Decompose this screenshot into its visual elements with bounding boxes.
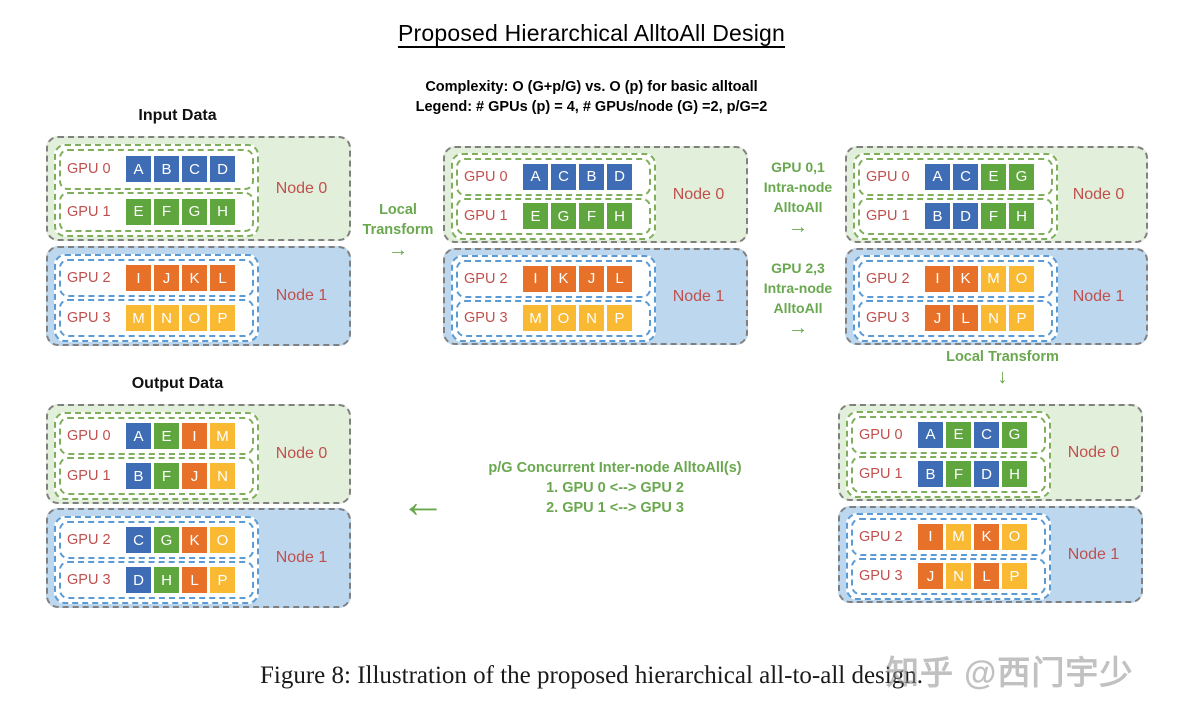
- gpu-row-gpu2[interactable]: GPU 2 IKMO: [858, 260, 1053, 298]
- output-data-label: Output Data: [65, 375, 290, 393]
- gpu-row-gpu1[interactable]: GPU 1 EGFH: [456, 198, 651, 236]
- data-chunk-cell: A: [918, 422, 943, 448]
- inter-node-line1: p/G Concurrent Inter-node AlltoAll(s): [450, 458, 780, 478]
- cell-list: EGFH: [523, 203, 632, 229]
- data-chunk-cell: H: [1002, 461, 1027, 487]
- node-label-node1: Node 1: [254, 248, 349, 344]
- cell-list: JNLP: [918, 563, 1027, 589]
- node-label-node1: Node 1: [1051, 250, 1146, 343]
- data-chunk-cell: G: [551, 203, 576, 229]
- gpu-row-label: GPU 3: [63, 572, 126, 588]
- gpu-row-gpu3[interactable]: GPU 3 MNOP: [59, 299, 254, 337]
- data-chunk-cell: O: [1002, 524, 1027, 550]
- right-arrow-icon: →: [350, 240, 446, 260]
- cell-list: AECG: [918, 422, 1027, 448]
- data-chunk-cell: G: [1009, 164, 1034, 190]
- local-transform-1-line1: Local: [350, 200, 446, 220]
- data-chunk-cell: L: [974, 563, 999, 589]
- stage4-node0-gpu-group: GPU 0 AECG GPU 1 BFDH: [846, 411, 1051, 498]
- data-chunk-cell: D: [607, 164, 632, 190]
- gpu-row-label: GPU 1: [63, 468, 126, 484]
- gpu-row-gpu0[interactable]: GPU 0 AECG: [851, 416, 1046, 454]
- gpu-row-label: GPU 0: [460, 169, 523, 185]
- gpu-row-gpu0[interactable]: GPU 0 ACEG: [858, 158, 1053, 196]
- data-chunk-cell: K: [974, 524, 999, 550]
- cell-list: IKJL: [523, 266, 632, 292]
- data-chunk-cell: I: [182, 423, 207, 449]
- cell-list: ACBD: [523, 164, 632, 190]
- data-chunk-cell: D: [210, 156, 235, 182]
- inter-node-line2: 1. GPU 0 <--> GPU 2: [450, 478, 780, 498]
- intra-node-23-line1: GPU 2,3: [752, 258, 844, 278]
- data-chunk-cell: N: [579, 305, 604, 331]
- data-chunk-cell: J: [918, 563, 943, 589]
- output-node1-gpu-group: GPU 2 CGKO GPU 3 DHLP: [54, 516, 259, 604]
- data-chunk-cell: K: [953, 266, 978, 292]
- stage2-node0-box: Node 0 GPU 0 ACBD GPU 1 EGFH: [443, 146, 748, 243]
- output-node1-box: Node 1 GPU 2 CGKO GPU 3 DHLP: [46, 508, 351, 608]
- data-chunk-cell: K: [551, 266, 576, 292]
- gpu-row-label: GPU 1: [460, 208, 523, 224]
- data-chunk-cell: I: [126, 265, 151, 291]
- intra-node-23-line3: AlltoAll: [752, 298, 844, 318]
- data-chunk-cell: L: [953, 305, 978, 331]
- data-chunk-cell: O: [182, 305, 207, 331]
- data-chunk-cell: B: [925, 203, 950, 229]
- data-chunk-cell: C: [953, 164, 978, 190]
- node-label-node1: Node 1: [254, 510, 349, 606]
- gpu-row-gpu3[interactable]: GPU 3 JLNP: [858, 300, 1053, 338]
- node-label-node0: Node 0: [1051, 148, 1146, 241]
- complexity-line: Complexity: O (G+p/G) vs. O (p) for basi…: [0, 77, 1183, 97]
- cell-list: JLNP: [925, 305, 1034, 331]
- local-transform-1-line2: Transform: [350, 220, 446, 240]
- data-chunk-cell: I: [925, 266, 950, 292]
- data-chunk-cell: F: [579, 203, 604, 229]
- gpu-row-label: GPU 0: [63, 428, 126, 444]
- cell-list: DHLP: [126, 567, 235, 593]
- data-chunk-cell: A: [126, 156, 151, 182]
- data-chunk-cell: M: [210, 423, 235, 449]
- stage4-node0-box: Node 0 GPU 0 AECG GPU 1 BFDH: [838, 404, 1143, 501]
- data-chunk-cell: J: [925, 305, 950, 331]
- data-chunk-cell: K: [182, 265, 207, 291]
- gpu-row-gpu2[interactable]: GPU 2 CGKO: [59, 521, 254, 559]
- data-chunk-cell: E: [981, 164, 1006, 190]
- data-chunk-cell: M: [981, 266, 1006, 292]
- data-chunk-cell: I: [523, 266, 548, 292]
- intra-node-01-line3: AlltoAll: [752, 197, 844, 217]
- data-chunk-cell: M: [126, 305, 151, 331]
- right-arrow-icon: →: [752, 217, 844, 237]
- intra-node-01-line2: Intra-node: [752, 177, 844, 197]
- data-chunk-cell: N: [154, 305, 179, 331]
- data-chunk-cell: F: [946, 461, 971, 487]
- cell-list: CGKO: [126, 527, 235, 553]
- gpu-row-label: GPU 3: [855, 568, 918, 584]
- node-label-node0: Node 0: [254, 138, 349, 239]
- data-chunk-cell: N: [981, 305, 1006, 331]
- gpu-row-label: GPU 3: [63, 310, 126, 326]
- node-label-node0: Node 0: [1046, 406, 1141, 499]
- node-label-node0: Node 0: [254, 406, 349, 502]
- gpu-row-gpu1[interactable]: GPU 1 EFGH: [59, 192, 254, 233]
- figure-canvas: Proposed Hierarchical AlltoAll Design Co…: [0, 0, 1183, 728]
- stage3-node1-box: Node 1 GPU 2 IKMO GPU 3 JLNP: [845, 248, 1148, 345]
- annotation-inter-node-alltoall: p/G Concurrent Inter-node AlltoAll(s) 1.…: [450, 458, 780, 518]
- gpu-row-label: GPU 1: [862, 208, 925, 224]
- down-arrow-icon: ↓: [900, 367, 1105, 387]
- stage3-node0-box: Node 0 GPU 0 ACEG GPU 1 BDFH: [845, 146, 1148, 243]
- output-node0-gpu-group: GPU 0 AEIM GPU 1 BFJN: [54, 412, 259, 500]
- watermark: 知乎 @西门宇少: [886, 646, 1133, 694]
- gpu-row-gpu1[interactable]: GPU 1 BDFH: [858, 198, 1053, 236]
- cell-list: BFJN: [126, 463, 235, 489]
- gpu-row-label: GPU 0: [862, 169, 925, 185]
- data-chunk-cell: A: [126, 423, 151, 449]
- cell-list: MONP: [523, 305, 632, 331]
- data-chunk-cell: A: [925, 164, 950, 190]
- cell-list: MNOP: [126, 305, 235, 331]
- gpu-row-gpu3[interactable]: GPU 3 DHLP: [59, 561, 254, 599]
- cell-list: BDFH: [925, 203, 1034, 229]
- stage2-node1-gpu-group: GPU 2 IKJL GPU 3 MONP: [451, 255, 656, 342]
- input-node0-gpu-group: GPU 0 ABCD GPU 1 EFGH: [54, 144, 259, 237]
- data-chunk-cell: N: [210, 463, 235, 489]
- gpu-row-label: GPU 3: [460, 310, 523, 326]
- node-label-node1: Node 1: [1046, 508, 1141, 601]
- data-chunk-cell: H: [210, 199, 235, 225]
- gpu-row-label: GPU 1: [855, 466, 918, 482]
- data-chunk-cell: O: [551, 305, 576, 331]
- gpu-row-label: GPU 1: [63, 204, 126, 220]
- gpu-row-gpu3[interactable]: GPU 3 MONP: [456, 300, 651, 338]
- data-chunk-cell: E: [946, 422, 971, 448]
- stage3-node1-gpu-group: GPU 2 IKMO GPU 3 JLNP: [853, 255, 1058, 342]
- gpu-row-label: GPU 3: [862, 310, 925, 326]
- data-chunk-cell: M: [946, 524, 971, 550]
- node-label-node0: Node 0: [651, 148, 746, 241]
- data-chunk-cell: F: [981, 203, 1006, 229]
- data-chunk-cell: G: [1002, 422, 1027, 448]
- gpu-row-label: GPU 2: [460, 271, 523, 287]
- data-chunk-cell: F: [154, 199, 179, 225]
- data-chunk-cell: O: [210, 527, 235, 553]
- data-chunk-cell: D: [974, 461, 999, 487]
- input-node1-gpu-group: GPU 2 IJKL GPU 3 MNOP: [54, 254, 259, 342]
- cell-list: IMKO: [918, 524, 1027, 550]
- data-chunk-cell: I: [918, 524, 943, 550]
- data-chunk-cell: B: [126, 463, 151, 489]
- stage4-node1-gpu-group: GPU 2 IMKO GPU 3 JNLP: [846, 513, 1051, 600]
- stage3-node0-gpu-group: GPU 0 ACEG GPU 1 BDFH: [853, 153, 1058, 240]
- data-chunk-cell: L: [182, 567, 207, 593]
- input-node1-box: Node 1 GPU 2 IJKL GPU 3 MNOP: [46, 246, 351, 346]
- intra-node-01-line1: GPU 0,1: [752, 157, 844, 177]
- data-chunk-cell: D: [126, 567, 151, 593]
- cell-list: BFDH: [918, 461, 1027, 487]
- data-chunk-cell: J: [154, 265, 179, 291]
- page-title: Proposed Hierarchical AlltoAll Design: [0, 20, 1183, 47]
- left-arrow-icon: ←: [400, 478, 446, 524]
- inter-node-line3: 2. GPU 1 <--> GPU 3: [450, 498, 780, 518]
- input-node0-box: Node 0 GPU 0 ABCD GPU 1 EFGH: [46, 136, 351, 241]
- data-chunk-cell: B: [579, 164, 604, 190]
- stage4-node1-box: Node 1 GPU 2 IMKO GPU 3 JNLP: [838, 506, 1143, 603]
- gpu-row-label: GPU 0: [63, 161, 126, 177]
- gpu-row-label: GPU 0: [855, 427, 918, 443]
- data-chunk-cell: A: [523, 164, 548, 190]
- data-chunk-cell: E: [154, 423, 179, 449]
- annotation-local-transform-1: Local Transform →: [350, 200, 446, 260]
- data-chunk-cell: G: [182, 199, 207, 225]
- gpu-row-gpu2[interactable]: GPU 2 IKJL: [456, 260, 651, 298]
- annotation-intra-node-gpu01: GPU 0,1 Intra-node AlltoAll →: [752, 157, 844, 237]
- annotation-local-transform-2: Local Transform ↓: [900, 347, 1105, 387]
- data-chunk-cell: C: [551, 164, 576, 190]
- annotation-intra-node-gpu23: GPU 2,3 Intra-node AlltoAll →: [752, 258, 844, 338]
- cell-list: ACEG: [925, 164, 1034, 190]
- data-chunk-cell: K: [182, 527, 207, 553]
- data-chunk-cell: B: [918, 461, 943, 487]
- local-transform-2-label: Local Transform: [900, 347, 1105, 367]
- data-chunk-cell: J: [182, 463, 207, 489]
- gpu-row-gpu1[interactable]: GPU 1 BFJN: [59, 457, 254, 495]
- data-chunk-cell: L: [607, 266, 632, 292]
- gpu-row-gpu0[interactable]: GPU 0 ACBD: [456, 158, 651, 196]
- data-chunk-cell: C: [182, 156, 207, 182]
- cell-list: ABCD: [126, 156, 235, 182]
- output-node0-box: Node 0 GPU 0 AEIM GPU 1 BFJN: [46, 404, 351, 504]
- data-chunk-cell: L: [210, 265, 235, 291]
- data-chunk-cell: P: [210, 305, 235, 331]
- data-chunk-cell: B: [154, 156, 179, 182]
- data-chunk-cell: C: [974, 422, 999, 448]
- cell-list: AEIM: [126, 423, 235, 449]
- gpu-row-gpu3[interactable]: GPU 3 JNLP: [851, 558, 1046, 596]
- data-chunk-cell: O: [1009, 266, 1034, 292]
- data-chunk-cell: E: [523, 203, 548, 229]
- intra-node-23-line2: Intra-node: [752, 278, 844, 298]
- input-data-label: Input Data: [65, 107, 290, 125]
- data-chunk-cell: H: [1009, 203, 1034, 229]
- data-chunk-cell: M: [523, 305, 548, 331]
- data-chunk-cell: P: [1002, 563, 1027, 589]
- data-chunk-cell: N: [946, 563, 971, 589]
- gpu-row-label: GPU 2: [63, 532, 126, 548]
- gpu-row-label: GPU 2: [855, 529, 918, 545]
- cell-list: EFGH: [126, 199, 235, 225]
- gpu-row-gpu0[interactable]: GPU 0 AEIM: [59, 417, 254, 455]
- cell-list: IKMO: [925, 266, 1034, 292]
- data-chunk-cell: P: [607, 305, 632, 331]
- data-chunk-cell: D: [953, 203, 978, 229]
- data-chunk-cell: H: [607, 203, 632, 229]
- gpu-row-gpu2[interactable]: GPU 2 IMKO: [851, 518, 1046, 556]
- node-label-node1: Node 1: [651, 250, 746, 343]
- stage2-node1-box: Node 1 GPU 2 IKJL GPU 3 MONP: [443, 248, 748, 345]
- stage2-node0-gpu-group: GPU 0 ACBD GPU 1 EGFH: [451, 153, 656, 240]
- data-chunk-cell: G: [154, 527, 179, 553]
- right-arrow-icon: →: [752, 318, 844, 338]
- data-chunk-cell: H: [154, 567, 179, 593]
- gpu-row-gpu1[interactable]: GPU 1 BFDH: [851, 456, 1046, 494]
- data-chunk-cell: P: [210, 567, 235, 593]
- gpu-row-gpu2[interactable]: GPU 2 IJKL: [59, 259, 254, 297]
- gpu-row-gpu0[interactable]: GPU 0 ABCD: [59, 149, 254, 190]
- gpu-row-label: GPU 2: [862, 271, 925, 287]
- gpu-row-label: GPU 2: [63, 270, 126, 286]
- data-chunk-cell: C: [126, 527, 151, 553]
- data-chunk-cell: E: [126, 199, 151, 225]
- data-chunk-cell: P: [1009, 305, 1034, 331]
- cell-list: IJKL: [126, 265, 235, 291]
- data-chunk-cell: F: [154, 463, 179, 489]
- data-chunk-cell: J: [579, 266, 604, 292]
